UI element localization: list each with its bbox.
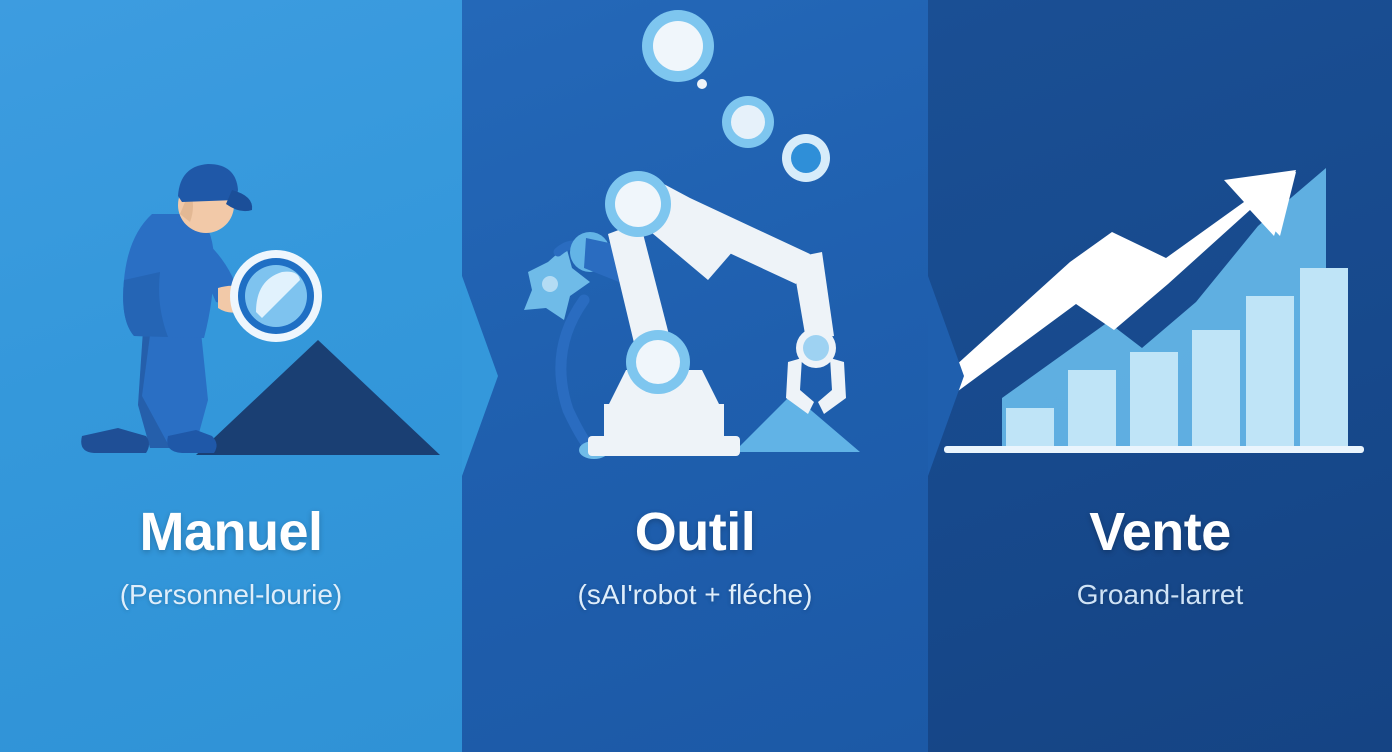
- robot-joint-top-pin: [697, 79, 707, 89]
- chart-bar: [1068, 370, 1116, 446]
- chart-baseline-axis: [944, 446, 1364, 453]
- robot-base-plate: [588, 436, 740, 456]
- chart-bar: [1130, 352, 1178, 446]
- robot-joint-elbow-core: [791, 143, 821, 173]
- worker-back-shoe: [81, 428, 149, 453]
- robot-cable: [561, 300, 594, 452]
- chevron-shape: [462, 276, 498, 476]
- chart-bar: [1300, 268, 1348, 446]
- stage-title-vente: Vente: [928, 505, 1392, 559]
- stage-caption-outil: Outil (sAI'robot + fléche): [462, 505, 928, 609]
- stage-panel-vente[interactable]: Vente Groand-larret: [928, 0, 1392, 752]
- stage-panel-outil[interactable]: Outil (sAI'robot + fléche): [462, 0, 928, 752]
- flow-chevron-icon: [928, 276, 980, 476]
- stage-subtitle-vente: Groand-larret: [928, 559, 1392, 609]
- robot-gripper-hub-inner: [803, 335, 829, 361]
- pile-shape: [196, 340, 440, 455]
- growth-bar-chart-arrow-icon: [928, 0, 1392, 752]
- infographic-root: Manuel (Personnel-lourie): [0, 0, 1392, 752]
- robotic-arm-icon: [462, 0, 928, 752]
- stage-title-outil: Outil: [462, 505, 928, 559]
- stage-caption-manuel: Manuel (Personnel-lourie): [0, 505, 462, 609]
- chevron-shape: [928, 276, 964, 476]
- chart-bar: [1246, 296, 1294, 446]
- robot-joint-shoulder-core: [615, 181, 661, 227]
- stage-subtitle-manuel: (Personnel-lourie): [0, 559, 462, 609]
- stage-title-manuel: Manuel: [0, 505, 462, 559]
- worker-cap: [178, 164, 238, 202]
- robot-joint-mid-core: [731, 105, 765, 139]
- robot-star-center: [542, 276, 558, 292]
- flow-chevron-icon: [462, 276, 514, 476]
- chart-bar: [1192, 330, 1240, 446]
- stage-panel-manuel[interactable]: Manuel (Personnel-lourie): [0, 0, 462, 752]
- robot-base-body: [604, 404, 724, 438]
- robot-joint-base-core: [636, 340, 680, 384]
- stage-caption-vente: Vente Groand-larret: [928, 505, 1392, 609]
- stage-subtitle-outil: (sAI'robot + fléche): [462, 559, 928, 609]
- worker-with-magnifier-icon: [0, 0, 462, 752]
- robot-forearm: [792, 252, 834, 340]
- chart-bar: [1006, 408, 1054, 446]
- robot-joint-top-core: [653, 21, 703, 71]
